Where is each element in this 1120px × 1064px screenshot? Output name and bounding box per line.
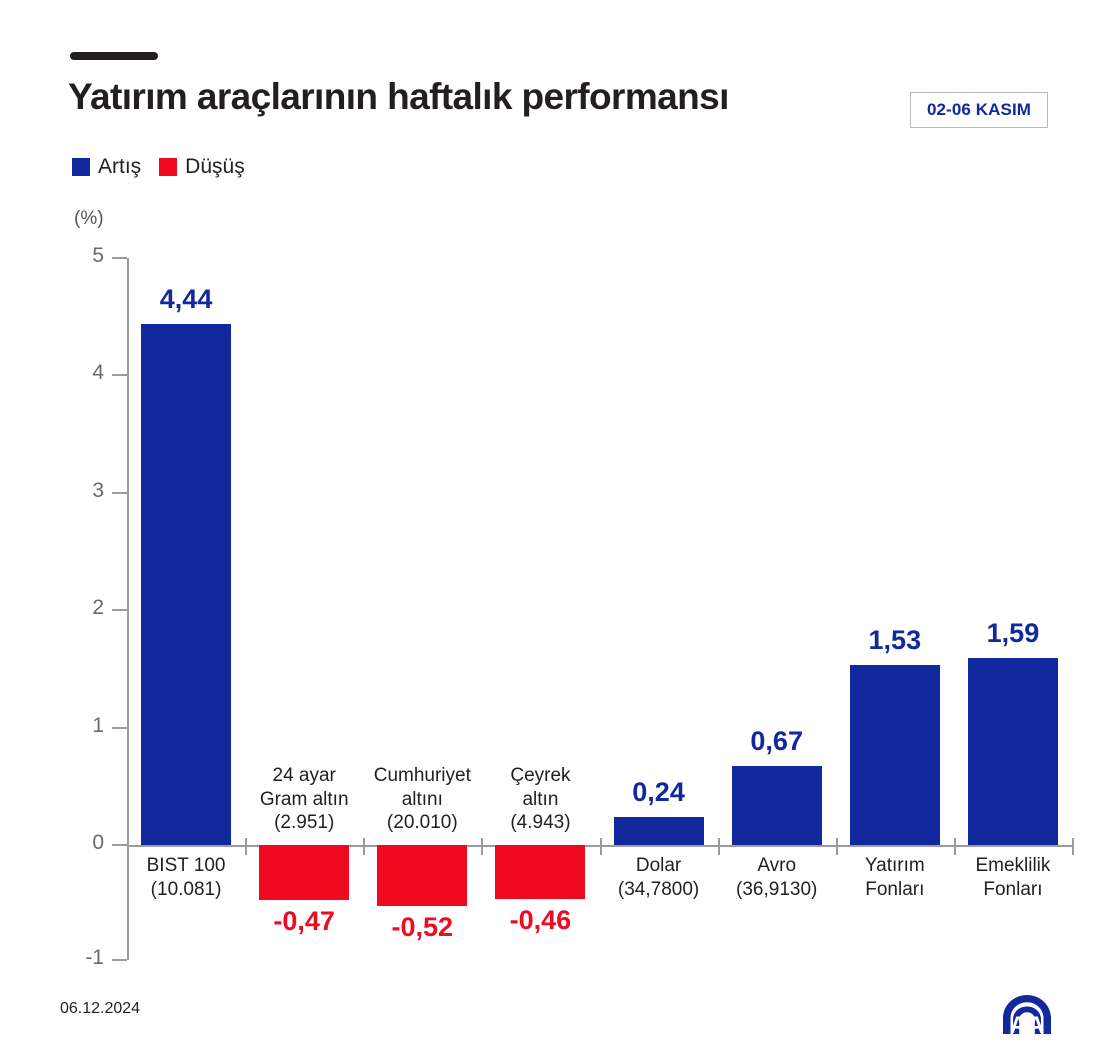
y-axis-tick [112,959,127,961]
aa-agency-logo-icon: AA [996,992,1058,1038]
bar-24-ayar-gram-alt-n[interactable] [259,845,349,900]
y-axis-tick-label: 3 [60,479,104,503]
y-axis-tick [112,727,127,729]
infographic-page: Yatırım araçlarının haftalık performansı… [0,0,1120,1064]
y-axis-tick-label: 2 [60,596,104,620]
y-axis-tick-label: 4 [60,361,104,385]
bar-avro[interactable] [732,766,822,845]
bar-chart-plot: 543210-14,44BIST 100(10.081)-0,4724 ayar… [0,0,1120,1064]
y-axis-tick [112,609,127,611]
bar-value-label: 0,24 [589,777,729,808]
cat-label-line: (4.943) [465,811,615,835]
x-axis-tick [363,838,365,855]
cat-label-line: BIST 100 [111,854,261,878]
cat-label-line: (10.081) [111,878,261,902]
bar-value-label: 1,59 [943,618,1083,649]
cat-label-line: Fonları [938,878,1088,902]
x-axis-category-label: BIST 100(10.081) [111,854,261,901]
publish-date: 06.12.2024 [60,1000,140,1018]
y-axis-tick-label: 1 [60,714,104,738]
x-axis-tick [127,838,129,855]
y-axis-tick-label: 5 [60,244,104,268]
x-axis-category-label: EmeklilikFonları [938,854,1088,901]
x-axis-tick [600,838,602,855]
y-axis-tick-label: -1 [60,946,104,970]
bar-emeklilik-fonlar-[interactable] [968,658,1058,845]
x-axis-tick [245,838,247,855]
y-axis-tick [112,844,127,846]
bar-value-label: -0,46 [470,905,610,936]
bar-value-label: 0,67 [707,726,847,757]
y-axis-tick [112,374,127,376]
x-axis-tick [836,838,838,855]
y-axis-tick [112,492,127,494]
svg-text:AA: AA [1010,1012,1045,1038]
x-axis-tick [954,838,956,855]
bar-dolar[interactable] [614,817,704,845]
bar-cumhuriyet-alt-n-[interactable] [377,845,467,906]
y-axis-tick [112,257,127,259]
bar-value-label: 4,44 [116,284,256,315]
cat-label-line: Emeklilik [938,854,1088,878]
bar-yat-r-m-fonlar-[interactable] [850,665,940,845]
bar-bist-100[interactable] [141,324,231,845]
bar--eyrek-alt-n[interactable] [495,845,585,899]
x-axis-tick [1072,838,1074,855]
x-axis-tick [481,838,483,855]
y-axis-tick-label: 0 [60,831,104,855]
x-axis-tick [718,838,720,855]
